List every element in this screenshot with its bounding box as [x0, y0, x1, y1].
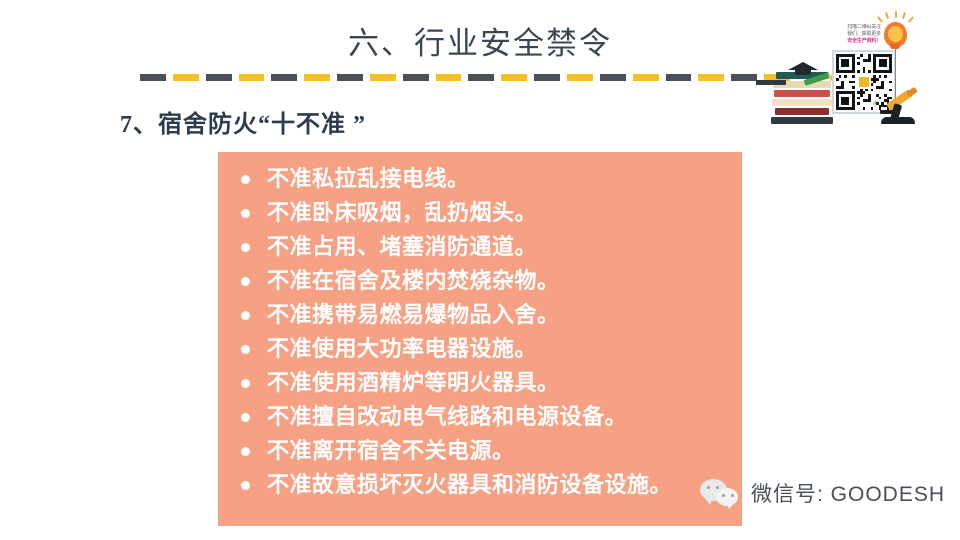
divider-dash	[173, 74, 199, 81]
bullet-icon	[241, 413, 250, 422]
dashed-divider	[140, 74, 790, 81]
book-item	[775, 108, 829, 115]
divider-dash	[271, 74, 297, 81]
qr-code-center-logo	[857, 75, 871, 89]
bullet-icon	[241, 311, 250, 320]
rule-text: 不准使用酒精炉等明火器具。	[267, 370, 560, 395]
bullet-icon	[241, 243, 250, 252]
wechat-icon	[700, 478, 742, 508]
divider-dash	[534, 74, 560, 81]
divider-dash	[698, 74, 724, 81]
divider-dash	[501, 74, 527, 81]
rule-item: 不准在宿舍及楼内焚烧杂物。	[241, 264, 734, 298]
lightbulb-glow	[888, 26, 903, 42]
slide-canvas: 六、行业安全禁令 7、宿舍防火“十不准 ” 不准私拉乱接电线。不准卧床吸烟，乱扔…	[0, 0, 960, 540]
lightbulb-ray	[895, 11, 897, 18]
book-item	[772, 99, 832, 106]
rule-text: 不准离开宿舍不关电源。	[267, 438, 515, 463]
microscope-sparkle-icon: ✳	[872, 100, 879, 108]
divider-dash	[206, 74, 232, 81]
divider-dash	[239, 74, 265, 81]
book-stack-icon	[770, 72, 836, 126]
promo-graphic: 扫描二维码关注 我们，获取更多 安全生产资料！ ✳	[762, 0, 960, 135]
divider-dash	[731, 74, 757, 81]
rule-text: 不准携带易燃易爆物品入舍。	[267, 302, 560, 327]
divider-dash	[567, 74, 593, 81]
lightbulb-ray	[877, 16, 883, 23]
bullet-icon	[241, 209, 250, 218]
divider-dash	[370, 74, 396, 81]
rule-text: 不准擅自改动电气线路和电源设备。	[267, 404, 627, 429]
wechat-watermark: 微信号: GOODESH	[700, 478, 945, 508]
rule-item: 不准擅自改动电气线路和电源设备。	[241, 400, 734, 434]
bullet-icon	[241, 345, 250, 354]
rules-list: 不准私拉乱接电线。不准卧床吸烟，乱扔烟头。不准占用、堵塞消防通道。不准在宿舍及楼…	[241, 162, 734, 502]
bullet-icon	[241, 447, 250, 456]
bullet-icon	[241, 481, 250, 490]
rules-panel: 不准私拉乱接电线。不准卧床吸烟，乱扔烟头。不准占用、堵塞消防通道。不准在宿舍及楼…	[218, 152, 742, 526]
divider-dash	[600, 74, 626, 81]
rule-item: 不准离开宿舍不关电源。	[241, 434, 734, 468]
lightbulb-ray	[885, 12, 889, 19]
rule-text: 不准故意损坏灭火器具和消防设备设施。	[267, 472, 672, 497]
microscope-stage	[880, 110, 895, 114]
wechat-dot	[707, 486, 710, 489]
lightbulb-neck	[890, 44, 900, 49]
rule-text: 不准私拉乱接电线。	[267, 166, 470, 191]
divider-dash	[337, 74, 363, 81]
wechat-dot	[722, 494, 725, 497]
graduation-cap-icon	[788, 62, 818, 70]
book-item	[774, 90, 830, 97]
wechat-id-label: 微信号: GOODESH	[751, 478, 945, 508]
divider-dash	[666, 74, 692, 81]
divider-dash	[468, 74, 494, 81]
lightbulb-ray	[902, 12, 906, 19]
rule-text: 不准占用、堵塞消防通道。	[267, 234, 537, 259]
wechat-bubble-small	[716, 488, 738, 506]
rule-item: 不准卧床吸烟，乱扔烟头。	[241, 196, 734, 230]
graduation-cap-base	[795, 70, 811, 75]
rule-text: 不准使用大功率电器设施。	[267, 336, 537, 361]
rule-text: 不准卧床吸烟，乱扔烟头。	[267, 200, 537, 225]
microscope-icon	[881, 117, 915, 124]
rule-text: 不准在宿舍及楼内焚烧杂物。	[267, 268, 560, 293]
rule-item: 不准占用、堵塞消防通道。	[241, 230, 734, 264]
divider-dash	[633, 74, 659, 81]
divider-dash	[436, 74, 462, 81]
bullet-icon	[241, 175, 250, 184]
rule-item: 不准故意损坏灭火器具和消防设备设施。	[241, 468, 734, 502]
bullet-icon	[241, 277, 250, 286]
divider-dash	[403, 74, 429, 81]
shelf-line	[756, 80, 786, 85]
wechat-dot	[716, 486, 719, 489]
rule-item: 不准私拉乱接电线。	[241, 162, 734, 196]
rule-item: 不准携带易燃易爆物品入舍。	[241, 298, 734, 332]
bullet-icon	[241, 379, 250, 388]
rule-item: 不准使用酒精炉等明火器具。	[241, 366, 734, 400]
section-subtitle: 7、宿舍防火“十不准 ”	[120, 104, 366, 139]
wechat-dot	[731, 494, 734, 497]
divider-dash	[140, 74, 166, 81]
lightbulb-ray	[908, 16, 914, 23]
rule-item: 不准使用大功率电器设施。	[241, 332, 734, 366]
book-item	[771, 117, 833, 124]
divider-dash	[304, 74, 330, 81]
